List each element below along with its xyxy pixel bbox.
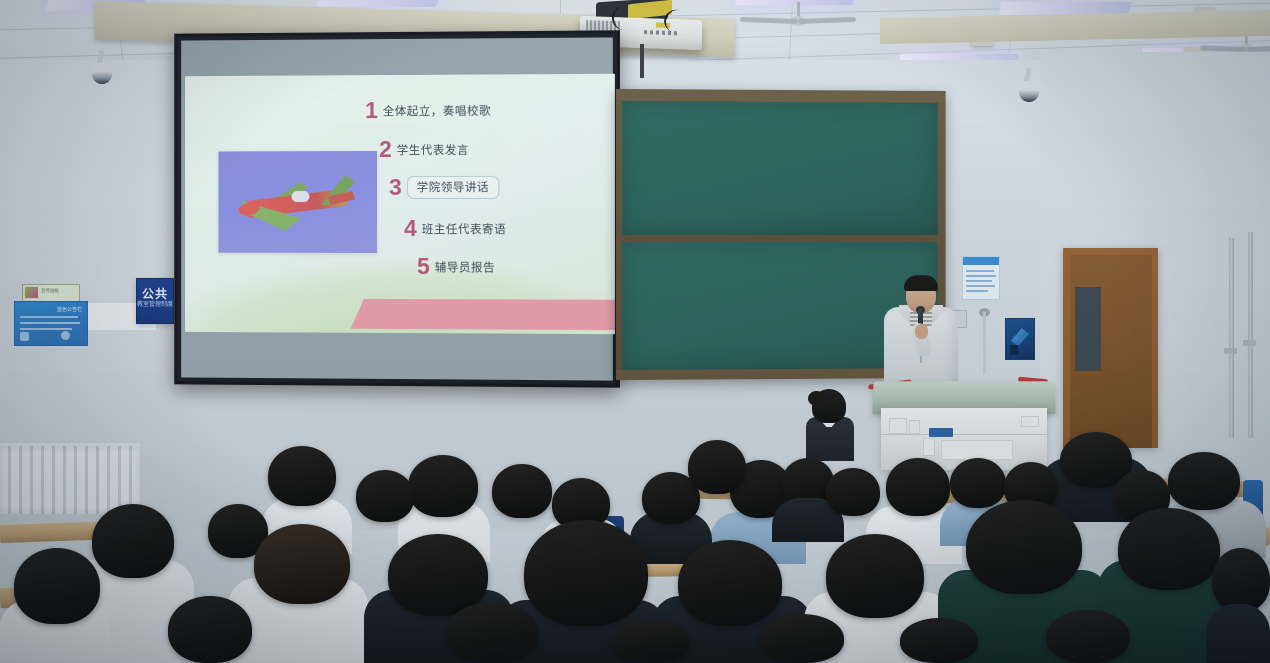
podium-badge	[929, 428, 953, 437]
agenda-item-3: 3 学院领导讲话	[389, 176, 499, 199]
audience-head	[886, 458, 950, 516]
agenda-item-5: 5 辅导员报告	[417, 255, 495, 278]
staff-assistant	[806, 389, 854, 461]
ceiling-light-panel	[316, 0, 440, 7]
pipe-bracket	[1224, 348, 1237, 354]
audience-head	[966, 500, 1082, 594]
door-leaf[interactable]	[1070, 255, 1152, 448]
wall-poster-notice	[962, 256, 1000, 300]
audience-head	[760, 614, 844, 663]
presenter-hair-top	[904, 276, 938, 291]
notice-board: 蓝色公告栏	[14, 301, 88, 346]
audience-head	[826, 468, 880, 516]
audience-head	[826, 534, 924, 618]
audience-head	[254, 524, 350, 604]
audience-head	[688, 440, 746, 494]
blackboard-top-rail	[616, 89, 946, 102]
slide-accent-band	[351, 299, 615, 330]
airplane-photo	[218, 151, 377, 253]
agenda-item-2: 2 学生代表发言	[379, 138, 469, 161]
audience-head	[1046, 610, 1130, 663]
security-camera-icon	[1017, 68, 1043, 106]
wall-poster-blue	[1005, 318, 1035, 360]
audience-head	[492, 464, 552, 518]
agenda-text: 全体起立，奏唱校歌	[383, 102, 491, 118]
audience-head	[1118, 508, 1220, 590]
picture-graphic	[25, 287, 38, 298]
audience-head	[950, 458, 1006, 508]
room-sign-subtitle: 教室管理制度	[137, 301, 173, 309]
agenda-number: 5	[417, 255, 430, 278]
wall-pipe	[1229, 238, 1234, 438]
audience-head	[356, 470, 414, 522]
pipe-bracket	[1243, 340, 1256, 346]
agenda-text: 辅导员报告	[435, 259, 495, 275]
agenda-text: 学生代表发言	[397, 141, 469, 157]
projected-slide: 1 全体起立，奏唱校歌 2 学生代表发言 3 学院领导讲话 4 班主任代表寄语 …	[185, 74, 615, 334]
audience-head	[14, 548, 100, 624]
audience-head	[408, 455, 478, 517]
agenda-item-1: 1 全体起立，奏唱校歌	[365, 99, 491, 123]
agenda-text: 班主任代表寄语	[422, 221, 506, 237]
room-sign-title: 公共	[137, 285, 173, 302]
framed-wall-picture: 宣传画框	[22, 284, 80, 302]
audience-head	[610, 620, 690, 663]
door-window	[1075, 287, 1101, 371]
audience-head	[678, 540, 782, 626]
security-camera-icon	[90, 50, 116, 86]
agenda-number: 3	[389, 176, 402, 199]
agenda-number: 1	[365, 99, 378, 122]
ceiling-fan	[780, 2, 816, 32]
audience-head	[524, 520, 648, 626]
notice-title: 蓝色公告栏	[57, 306, 82, 313]
audience-head	[1168, 452, 1240, 510]
agenda-number: 4	[404, 217, 417, 240]
room-sign: 公共 教室管理制度	[136, 278, 174, 324]
agenda-text-highlighted: 学院领导讲话	[407, 176, 499, 199]
wall-pipe	[1248, 232, 1253, 438]
audience-head	[900, 618, 978, 663]
classroom-door[interactable]	[1063, 248, 1158, 448]
airplane-engine	[292, 191, 310, 202]
wall-mount-pole	[983, 312, 986, 374]
audience-member	[1206, 604, 1270, 663]
presenter-hand	[915, 324, 928, 339]
agenda-number: 2	[379, 138, 392, 161]
audience-head	[92, 504, 174, 578]
projection-screen: 1 全体起立，奏唱校歌 2 学生代表发言 3 学院领导讲话 4 班主任代表寄语 …	[174, 30, 620, 387]
screen-surface: 1 全体起立，奏唱校歌 2 学生代表发言 3 学院领导讲话 4 班主任代表寄语 …	[181, 37, 613, 380]
wall-radiator	[0, 443, 140, 514]
agenda-item-4: 4 班主任代表寄语	[404, 217, 506, 240]
lecture-hall-photo: 1 全体起立，奏唱校歌 2 学生代表发言 3 学院领导讲话 4 班主任代表寄语 …	[0, 0, 1270, 663]
presenter	[884, 277, 958, 389]
projector-cable	[612, 6, 636, 30]
audience-head	[268, 446, 336, 506]
audience-head	[1212, 548, 1270, 612]
audience-head	[168, 596, 252, 663]
audience-head	[446, 602, 538, 663]
projector-pole	[640, 44, 644, 78]
blackboard-panel-upper	[622, 101, 938, 235]
picture-caption: 宣传画框	[41, 288, 59, 293]
assistant-hair-bun	[808, 391, 825, 406]
